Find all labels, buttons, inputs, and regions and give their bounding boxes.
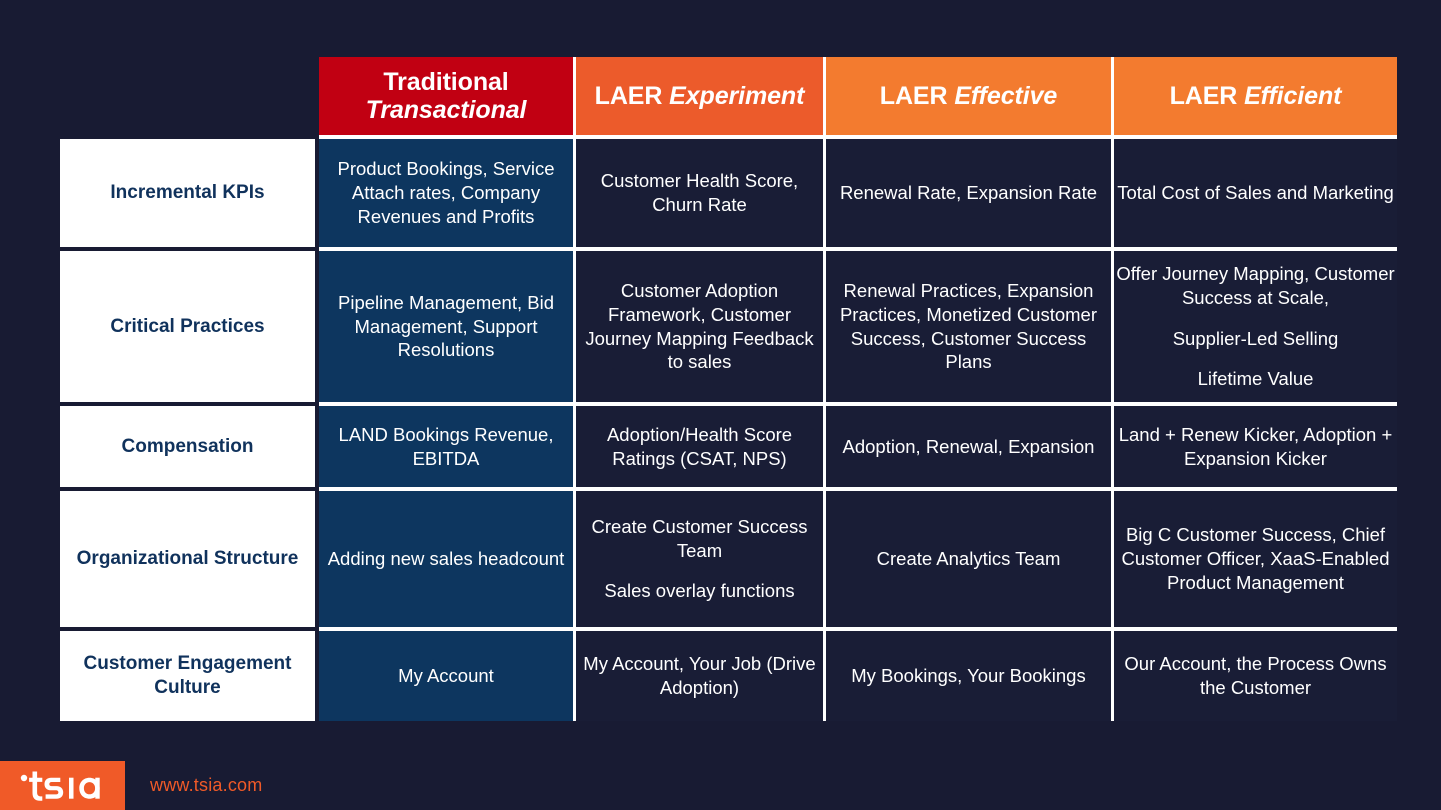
tsia-wordmark-icon xyxy=(17,769,109,803)
laer-maturity-matrix: Traditional Transactional LAER Experimen… xyxy=(60,57,1397,721)
cell-critical-practices-effective: Renewal Practices, Expansion Practices, … xyxy=(826,251,1114,406)
column-header-efficient-line2: Efficient xyxy=(1244,82,1341,110)
cell-paragraph: Land + Renew Kicker, Adoption + Expansio… xyxy=(1114,423,1397,470)
cell-paragraph: Renewal Practices, Expansion Practices, … xyxy=(826,279,1111,374)
cell-incremental-kpis-traditional: Product Bookings, Service Attach rates, … xyxy=(319,139,576,251)
slide-canvas: Traditional Transactional LAER Experimen… xyxy=(0,0,1441,810)
cell-paragraph: Pipeline Management, Bid Management, Sup… xyxy=(319,291,573,362)
cell-paragraph: My Account, Your Job (Drive Adoption) xyxy=(576,652,823,699)
cell-paragraph: Renewal Rate, Expansion Rate xyxy=(826,181,1111,205)
column-header-experiment-line2: Experiment xyxy=(669,82,804,110)
cell-paragraph: Adding new sales headcount xyxy=(319,547,573,571)
cell-incremental-kpis-efficient: Total Cost of Sales and Marketing xyxy=(1114,139,1397,251)
cell-customer-engagement-culture-experiment: My Account, Your Job (Drive Adoption) xyxy=(576,631,826,721)
cell-paragraph: My Bookings, Your Bookings xyxy=(826,664,1111,688)
table-row: Critical Practices Pipeline Management, … xyxy=(60,251,1397,406)
cell-critical-practices-traditional: Pipeline Management, Bid Management, Sup… xyxy=(319,251,576,406)
cell-paragraph: Create Analytics Team xyxy=(826,547,1111,571)
cell-paragraph: Offer Journey Mapping, Customer Success … xyxy=(1114,262,1397,309)
column-header-experiment: LAER Experiment xyxy=(576,57,826,139)
cell-compensation-traditional: LAND Bookings Revenue, EBITDA xyxy=(319,406,576,491)
column-header-efficient-line1: LAER xyxy=(1170,82,1238,110)
cell-paragraph: Product Bookings, Service Attach rates, … xyxy=(319,157,573,228)
cell-paragraph: Adoption, Renewal, Expansion xyxy=(826,435,1111,459)
matrix-header-row: Traditional Transactional LAER Experimen… xyxy=(60,57,1397,139)
row-label-organizational-structure: Organizational Structure xyxy=(60,491,319,631)
cell-paragraph: LAND Bookings Revenue, EBITDA xyxy=(319,423,573,470)
table-row: Organizational Structure Adding new sale… xyxy=(60,491,1397,631)
cell-paragraph: Customer Adoption Framework, Customer Jo… xyxy=(576,279,823,374)
cell-paragraph: Total Cost of Sales and Marketing xyxy=(1114,181,1397,205)
cell-paragraph: Customer Health Score, Churn Rate xyxy=(576,169,823,216)
row-label-compensation: Compensation xyxy=(60,406,319,491)
table-row: Incremental KPIs Product Bookings, Servi… xyxy=(60,139,1397,251)
matrix-corner-cell xyxy=(60,57,319,139)
cell-paragraph: My Account xyxy=(319,664,573,688)
column-header-traditional-line2: Transactional xyxy=(319,96,573,124)
cell-organizational-structure-efficient: Big C Customer Success, Chief Customer O… xyxy=(1114,491,1397,631)
column-header-effective: LAER Effective xyxy=(826,57,1114,139)
cell-customer-engagement-culture-effective: My Bookings, Your Bookings xyxy=(826,631,1114,721)
cell-paragraph: Sales overlay functions xyxy=(576,579,823,603)
cell-paragraph: Create Customer Success Team xyxy=(576,515,823,562)
cell-organizational-structure-traditional: Adding new sales headcount xyxy=(319,491,576,631)
row-label-customer-engagement-culture: Customer Engagement Culture xyxy=(60,631,319,721)
footer-website-url[interactable]: www.tsia.com xyxy=(150,761,262,810)
cell-organizational-structure-effective: Create Analytics Team xyxy=(826,491,1114,631)
cell-critical-practices-efficient: Offer Journey Mapping, Customer Success … xyxy=(1114,251,1397,406)
cell-compensation-experiment: Adoption/Health Score Ratings (CSAT, NPS… xyxy=(576,406,826,491)
cell-incremental-kpis-experiment: Customer Health Score, Churn Rate xyxy=(576,139,826,251)
cell-customer-engagement-culture-efficient: Our Account, the Process Owns the Custom… xyxy=(1114,631,1397,721)
cell-paragraph: Our Account, the Process Owns the Custom… xyxy=(1114,652,1397,699)
column-header-efficient: LAER Efficient xyxy=(1114,57,1397,139)
table-row: Compensation LAND Bookings Revenue, EBIT… xyxy=(60,406,1397,491)
cell-compensation-effective: Adoption, Renewal, Expansion xyxy=(826,406,1114,491)
cell-compensation-efficient: Land + Renew Kicker, Adoption + Expansio… xyxy=(1114,406,1397,491)
cell-customer-engagement-culture-traditional: My Account xyxy=(319,631,576,721)
column-header-traditional: Traditional Transactional xyxy=(319,57,576,139)
cell-paragraph: Big C Customer Success, Chief Customer O… xyxy=(1114,523,1397,594)
cell-incremental-kpis-effective: Renewal Rate, Expansion Rate xyxy=(826,139,1114,251)
column-header-effective-line2: Effective xyxy=(954,82,1057,110)
table-row: Customer Engagement Culture My Account M… xyxy=(60,631,1397,721)
column-header-traditional-line1: Traditional xyxy=(383,68,508,96)
row-label-critical-practices: Critical Practices xyxy=(60,251,319,406)
cell-paragraph: Supplier-Led Selling xyxy=(1114,327,1397,351)
row-label-incremental-kpis: Incremental KPIs xyxy=(60,139,319,251)
slide-footer: www.tsia.com xyxy=(0,761,1441,810)
cell-paragraph: Lifetime Value xyxy=(1114,367,1397,391)
cell-organizational-structure-experiment: Create Customer Success Team Sales overl… xyxy=(576,491,826,631)
column-header-experiment-line1: LAER xyxy=(595,82,663,110)
tsia-logo xyxy=(0,761,125,810)
cell-paragraph: Adoption/Health Score Ratings (CSAT, NPS… xyxy=(576,423,823,470)
cell-critical-practices-experiment: Customer Adoption Framework, Customer Jo… xyxy=(576,251,826,406)
column-header-effective-line1: LAER xyxy=(880,82,948,110)
